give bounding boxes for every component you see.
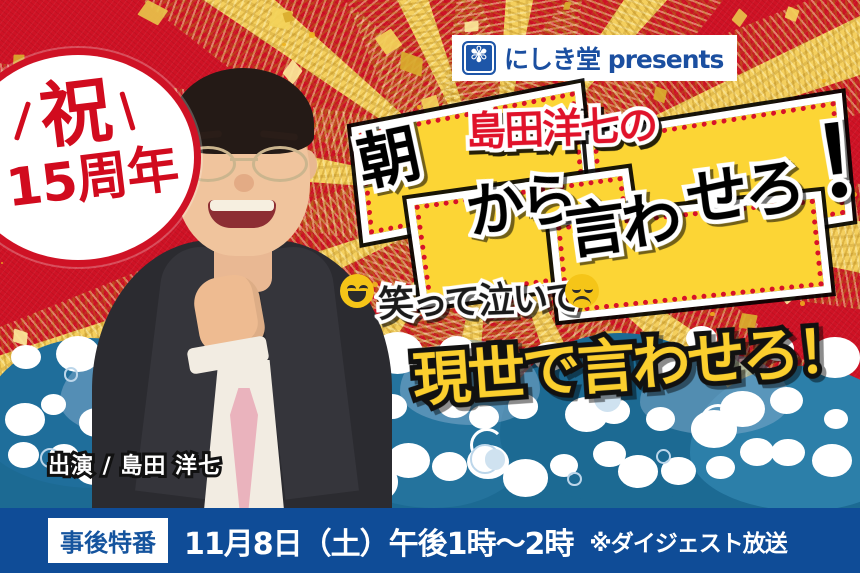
broadcast-datetime: 11月8日（土）午後1時〜2時 <box>184 519 573 563</box>
broadcast-note: ※ダイジェスト放送 <box>589 524 786 558</box>
broadcast-info-bar: 事後特番 11月8日（土）午後1時〜2時 ※ダイジェスト放送 <box>0 508 860 573</box>
nose <box>234 174 254 192</box>
anniversary-badge: 祝 15周年 <box>0 55 194 260</box>
sponsor-label: にしき堂 presents <box>504 40 723 76</box>
wave-foam <box>41 394 67 415</box>
subtitle-line-1: 笑って泣いて <box>377 269 580 328</box>
wave-foam <box>387 443 430 478</box>
wave-foam <box>812 444 852 477</box>
badge-slash-right <box>119 91 135 131</box>
confetti-spark <box>417 105 421 109</box>
wave-foam <box>5 403 45 436</box>
badge-years: 15周年 <box>3 143 180 216</box>
broadcast-promo-poster: 祝 15周年 にしき堂 presents 島田洋七の 朝 から 言わ せろ ！ … <box>0 0 860 573</box>
wave-foam <box>824 409 848 429</box>
wave-foam <box>11 345 40 369</box>
wave-bubble <box>485 449 506 470</box>
wave-foam <box>8 442 40 468</box>
wave-bubble <box>567 472 581 486</box>
wave-foam <box>740 438 774 466</box>
confetti-piece <box>465 21 479 32</box>
wave-foam <box>432 452 467 481</box>
title-word-sero: せろ <box>683 155 806 231</box>
confetti-spark <box>822 79 826 83</box>
wave-foam <box>503 459 549 496</box>
wave-foam <box>646 407 675 431</box>
wave-spiral-curl <box>700 404 736 440</box>
nishikido-star-logo-icon <box>462 41 496 75</box>
eyeglasses-icon <box>180 146 308 176</box>
smiling-mouth <box>208 200 276 228</box>
happy-face-emoji-icon <box>340 274 374 308</box>
title-word-kara: から <box>462 168 578 242</box>
cast-credit: 出演 / 島田 洋七 <box>48 448 221 480</box>
badge-kanji: 祝 <box>36 73 114 153</box>
sponsor-banner: にしき堂 presents <box>452 35 737 81</box>
sad-face-emoji-icon <box>565 274 599 308</box>
title-word-asa: 朝 <box>352 123 422 196</box>
wave-bubble <box>64 367 78 381</box>
confetti-spark <box>309 32 315 38</box>
title-word-iwa: 言わ <box>562 188 681 263</box>
badge-slash-left <box>14 101 31 141</box>
title-performer-name: 島田洋七の <box>465 93 657 158</box>
program-type-tag: 事後特番 <box>48 518 168 563</box>
